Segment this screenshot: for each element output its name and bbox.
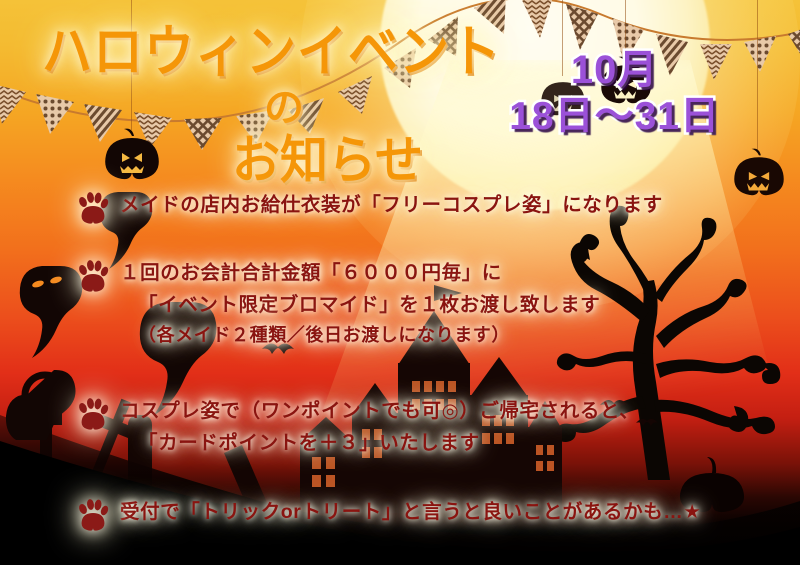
paw-print-icon bbox=[76, 192, 110, 224]
list-item-line: （各メイド２種類／後日お渡しになります） bbox=[138, 321, 800, 350]
halloween-event-poster: ハロウィンイベント の お知らせ 10月 18日〜31日 メイドの店内お給仕衣装… bbox=[0, 0, 800, 565]
list-item-line: コスプレ姿で（ワンポイントでも可◎）ご帰宅されると、 bbox=[120, 396, 800, 428]
event-details-list: メイドの店内お給仕衣装が「フリーコスプレ姿」になります １回のお会計合計金額「６… bbox=[0, 188, 800, 537]
paw-print-icon bbox=[76, 398, 110, 430]
title-main-text: ハロウィンイベント bbox=[42, 24, 512, 80]
event-month: 10月 bbox=[509, 48, 720, 93]
list-item-line: 「イベント限定ブロマイド」を１枚お渡し致します bbox=[138, 290, 800, 322]
paw-print-icon bbox=[76, 499, 110, 531]
event-day-range: 18日〜31日 bbox=[509, 95, 720, 139]
list-item: メイドの店内お給仕衣装が「フリーコスプレ姿」になります bbox=[0, 190, 800, 224]
list-item-line: 受付で「トリックorトリート」と言うと良いことがあるかも…★ bbox=[120, 497, 800, 529]
list-item: コスプレ姿で（ワンポイントでも可◎）ご帰宅されると、 「カードポイントを＋３」い… bbox=[0, 396, 800, 459]
title-connector-text: の bbox=[264, 88, 512, 128]
event-date-block: 10月 18日〜31日 bbox=[509, 48, 720, 138]
list-item-line: １回のお会計合計金額「６０００円毎」に bbox=[120, 258, 800, 290]
hanging-string bbox=[757, 0, 758, 150]
title-sub-text: お知らせ bbox=[232, 136, 512, 188]
list-item-line: 「カードポイントを＋３」いたします bbox=[138, 428, 800, 460]
poster-title: ハロウィンイベント の お知らせ bbox=[42, 24, 512, 184]
list-item: 受付で「トリックorトリート」と言うと良いことがあるかも…★ bbox=[0, 497, 800, 531]
paw-print-icon bbox=[76, 260, 110, 292]
list-item: １回のお会計合計金額「６０００円毎」に 「イベント限定ブロマイド」を１枚お渡し致… bbox=[0, 258, 800, 350]
list-item-line: メイドの店内お給仕衣装が「フリーコスプレ姿」になります bbox=[120, 190, 800, 222]
